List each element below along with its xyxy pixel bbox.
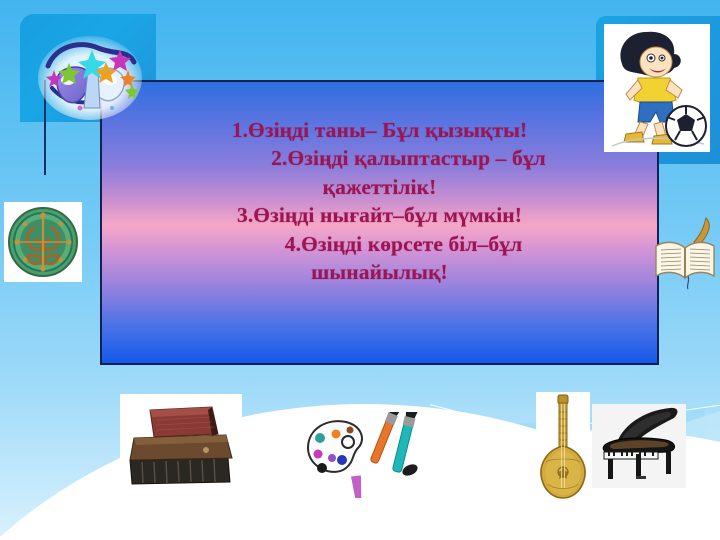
presentation-slide: 1.Өзіңді таны– Бұл қызықты! 2.Өзіңді қал… [0, 0, 720, 540]
slide-text-block: 1.Өзіңді таны– Бұл қызықты! 2.Өзіңді қал… [102, 116, 657, 286]
text-line-6: шынайылық! [102, 258, 657, 286]
open-book-image [652, 216, 720, 290]
text-line-3: қажеттілік! [102, 173, 657, 201]
main-text-panel: 1.Өзіңді таны– Бұл қызықты! 2.Өзіңді қал… [100, 80, 659, 365]
grand-piano-image [592, 404, 686, 488]
soccer-boy-image [604, 24, 710, 152]
dombra-image [536, 392, 590, 502]
text-line-1: 1.Өзіңді таны– Бұл қызықты! [102, 116, 657, 144]
book-stack-image [120, 394, 242, 494]
text-line-2: 2.Өзіңді қалыптастыр – бұл [102, 144, 657, 172]
text-line-4: 3.Өзіңді нығайт–бұл мүмкін! [102, 201, 657, 229]
text-line-5: 4.Өзіңді көрсете біл–бұл [102, 230, 657, 258]
carnival-mask-image [36, 28, 144, 120]
ornament-circle-image [4, 202, 82, 282]
art-palette-image [300, 412, 418, 498]
